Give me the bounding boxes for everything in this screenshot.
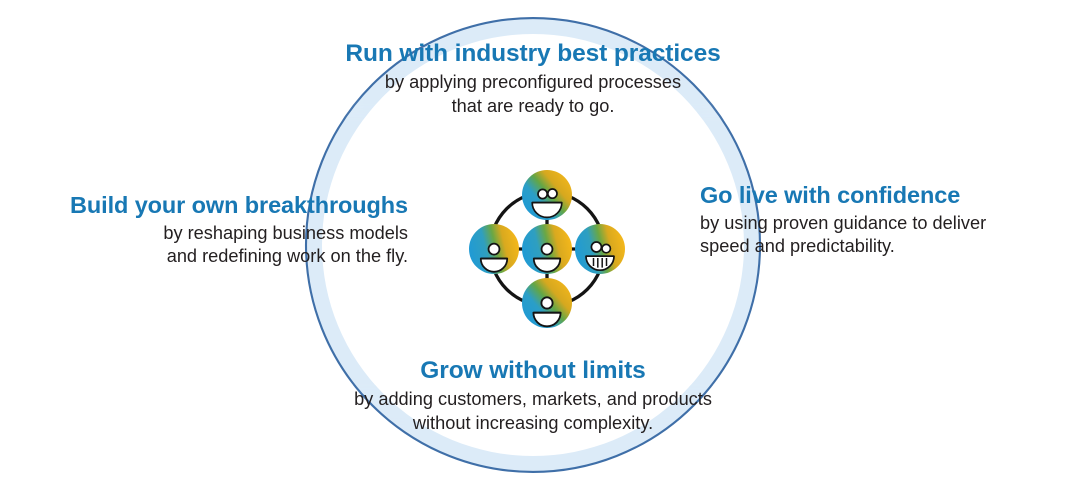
benefit-headline-top: Run with industry best practices bbox=[0, 40, 1066, 69]
benefit-headline-right: Go live with confidence bbox=[700, 182, 1060, 210]
benefit-block-top: Run with industry best practices by appl… bbox=[0, 40, 1066, 118]
connected-people-network-icon bbox=[468, 163, 628, 335]
benefit-subtext-left-line1: by reshaping business models bbox=[0, 222, 408, 246]
benefit-subtext-left-line2: and redefining work on the fly. bbox=[0, 245, 408, 269]
benefit-subtext-right-line2: speed and predictability. bbox=[700, 235, 1060, 259]
benefit-block-bottom: Grow without limits by adding customers,… bbox=[0, 357, 1066, 435]
benefit-subtext-top-line2: that are ready to go. bbox=[0, 95, 1066, 119]
benefits-wheel-infographic: Run with industry best practices by appl… bbox=[0, 0, 1066, 503]
benefit-subtext-top-line1: by applying preconfigured processes bbox=[0, 71, 1066, 95]
benefit-headline-left: Build your own breakthroughs bbox=[0, 192, 408, 220]
benefit-subtext-bottom-line1: by adding customers, markets, and produc… bbox=[0, 388, 1066, 412]
icon-node-west bbox=[469, 224, 519, 274]
benefit-block-right: Go live with confidence by using proven … bbox=[700, 182, 1060, 259]
icon-node-south bbox=[522, 278, 572, 328]
icon-node-east bbox=[575, 224, 625, 274]
benefit-subtext-left: by reshaping business models and redefin… bbox=[0, 222, 408, 269]
icon-node-north bbox=[522, 170, 572, 220]
benefit-subtext-top: by applying preconfigured processes that… bbox=[0, 71, 1066, 118]
benefit-subtext-bottom: by adding customers, markets, and produc… bbox=[0, 388, 1066, 435]
benefit-subtext-bottom-line2: without increasing complexity. bbox=[0, 412, 1066, 436]
benefit-subtext-right-line1: by using proven guidance to deliver bbox=[700, 212, 1060, 236]
benefit-headline-bottom: Grow without limits bbox=[0, 357, 1066, 386]
benefit-block-left: Build your own breakthroughs by reshapin… bbox=[0, 192, 420, 269]
icon-node-center bbox=[522, 224, 572, 274]
benefit-subtext-right: by using proven guidance to deliver spee… bbox=[700, 212, 1060, 259]
